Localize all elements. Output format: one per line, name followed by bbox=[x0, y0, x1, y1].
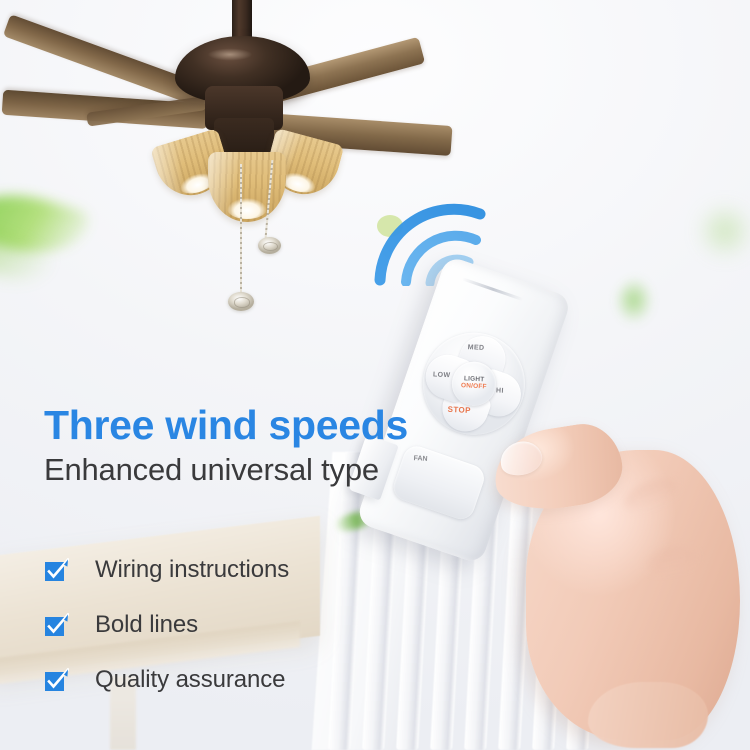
page-subtitle: Enhanced universal type bbox=[44, 453, 474, 487]
page-title: Three wind speeds bbox=[44, 404, 474, 447]
list-item: Quality assurance bbox=[44, 666, 464, 694]
checkbox-checked-icon bbox=[44, 668, 69, 693]
checkbox-checked-icon bbox=[44, 558, 69, 583]
pull-chain-finial bbox=[258, 237, 281, 254]
feature-list: Wiring instructions Bold lines Quali bbox=[44, 556, 464, 721]
list-item-label: Quality assurance bbox=[95, 666, 285, 694]
list-item-label: Bold lines bbox=[95, 611, 198, 639]
pull-chain bbox=[240, 164, 242, 294]
speed-med-label: MED bbox=[468, 344, 485, 352]
pull-chain-finial bbox=[228, 292, 254, 311]
remote-top-detail bbox=[462, 277, 523, 301]
checkbox-checked-icon bbox=[44, 613, 69, 638]
list-item: Bold lines bbox=[44, 611, 464, 639]
list-item: Wiring instructions bbox=[44, 556, 464, 584]
product-banner: MED HI LOW STOP LIGHT ON/OFF FAN Three w… bbox=[0, 0, 750, 750]
leaf-blur-right-secondary bbox=[690, 196, 750, 266]
copy-block: Three wind speeds Enhanced universal typ… bbox=[44, 404, 474, 488]
fan-light-shade bbox=[208, 152, 286, 222]
lower-finger bbox=[588, 682, 708, 748]
light-button-label-line2: ON/OFF bbox=[461, 383, 487, 391]
speed-hi-label: HI bbox=[496, 387, 504, 394]
list-item-label: Wiring instructions bbox=[95, 556, 289, 584]
hand-holding-remote bbox=[470, 398, 750, 750]
speed-low-label: LOW bbox=[433, 371, 451, 379]
